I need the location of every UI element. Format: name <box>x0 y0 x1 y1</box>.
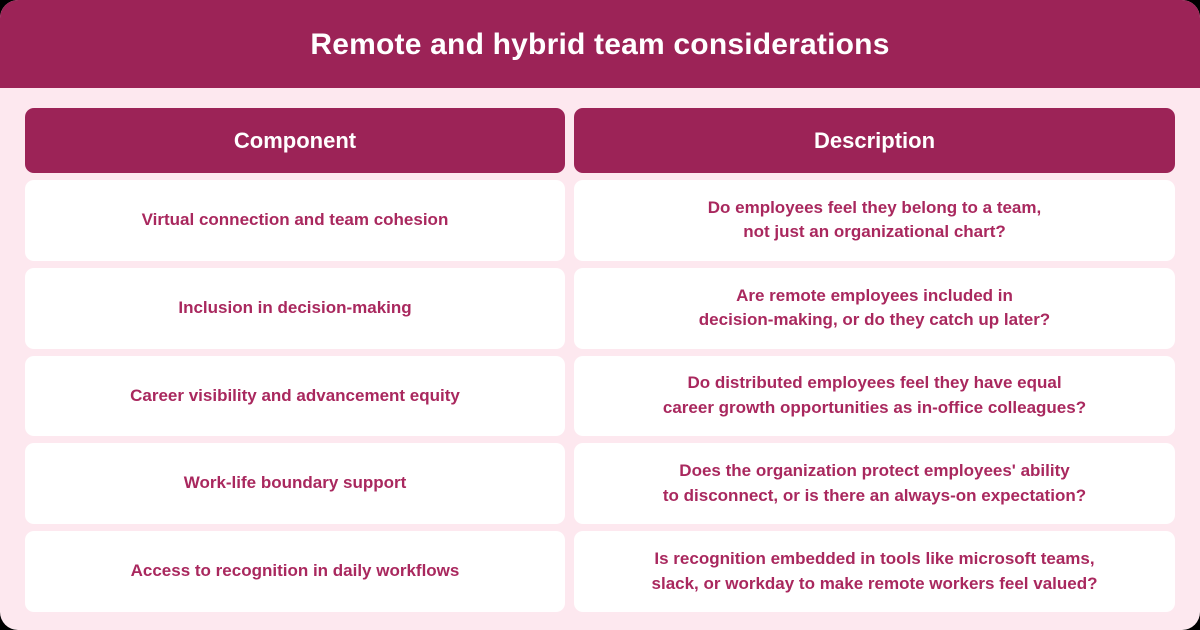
description-label: Do distributed employees feel they have … <box>663 371 1086 420</box>
description-label: Does the organization protect employees'… <box>663 459 1086 508</box>
comparison-table: Component Description Virtual connection… <box>0 88 1200 630</box>
table-cell-component: Inclusion in decision-making <box>25 268 565 349</box>
column-header-description: Description <box>574 108 1175 173</box>
component-label: Career visibility and advancement equity <box>130 384 460 409</box>
table-row: Access to recognition in daily workflows… <box>25 531 1175 612</box>
table-cell-description: Is recognition embedded in tools like mi… <box>574 531 1175 612</box>
table-cell-component: Work-life boundary support <box>25 443 565 524</box>
table-cell-description: Are remote employees included in decisio… <box>574 268 1175 349</box>
table-header-row: Component Description <box>25 108 1175 173</box>
column-header-component: Component <box>25 108 565 173</box>
column-header-component-label: Component <box>234 128 356 154</box>
component-label: Virtual connection and team cohesion <box>142 208 449 233</box>
component-label: Inclusion in decision-making <box>178 296 411 321</box>
table-cell-description: Do distributed employees feel they have … <box>574 356 1175 437</box>
infographic-table-page: Remote and hybrid team considerations Co… <box>0 0 1200 630</box>
table-cell-description: Do employees feel they belong to a team,… <box>574 180 1175 261</box>
table-row: Career visibility and advancement equity… <box>25 356 1175 437</box>
column-header-description-label: Description <box>814 128 935 154</box>
table-cell-component: Access to recognition in daily workflows <box>25 531 565 612</box>
title-bar: Remote and hybrid team considerations <box>0 0 1200 88</box>
table-cell-description: Does the organization protect employees'… <box>574 443 1175 524</box>
description-label: Do employees feel they belong to a team,… <box>708 196 1041 245</box>
table-row: Virtual connection and team cohesion Do … <box>25 180 1175 261</box>
component-label: Work-life boundary support <box>184 471 407 496</box>
table-row: Work-life boundary support Does the orga… <box>25 443 1175 524</box>
table-row: Inclusion in decision-making Are remote … <box>25 268 1175 349</box>
page-title: Remote and hybrid team considerations <box>310 28 889 61</box>
table-cell-component: Virtual connection and team cohesion <box>25 180 565 261</box>
component-label: Access to recognition in daily workflows <box>131 559 460 584</box>
table-cell-component: Career visibility and advancement equity <box>25 356 565 437</box>
description-label: Is recognition embedded in tools like mi… <box>652 547 1098 596</box>
description-label: Are remote employees included in decisio… <box>699 284 1050 333</box>
